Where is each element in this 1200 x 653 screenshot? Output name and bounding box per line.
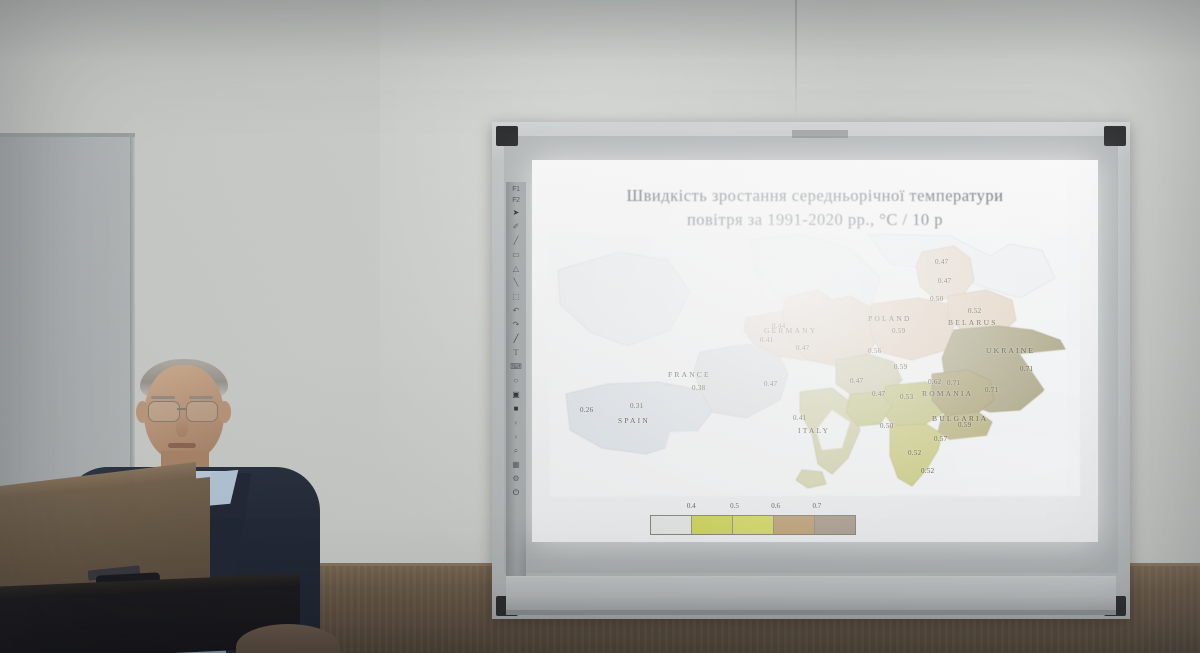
ceiling-shadow [0, 0, 1200, 62]
whiteboard-toolstrip[interactable]: F1 F2 ➤ ✐ ╱ ▭ △ ╲ ⬚ ↶ ↷ ╱ T ⌨ ○ ▣ ■ ‹ › … [506, 182, 526, 582]
colorbar-swatch-1 [692, 516, 733, 534]
pen-thin-tool-icon[interactable]: ╱ [510, 333, 522, 345]
function-key-f2[interactable]: F2 [512, 196, 520, 205]
colorbar-swatch-0 [651, 516, 692, 534]
text-tool-icon[interactable]: T [510, 347, 522, 359]
colorbar-swatch-2 [733, 516, 774, 534]
camera-tool-icon[interactable]: ■ [510, 403, 522, 415]
page-prev-tool-icon[interactable]: › [510, 431, 522, 443]
whiteboard-pen-tray [506, 576, 1116, 611]
circle-tool-icon[interactable]: ○ [510, 375, 522, 387]
colorbar-swatches [650, 515, 856, 535]
interactive-whiteboard[interactable]: F1 F2 ➤ ✐ ╱ ▭ △ ╲ ⬚ ↶ ↷ ╱ T ⌨ ○ ▣ ■ ‹ › … [492, 122, 1130, 619]
grid-tool-icon[interactable]: ▦ [510, 459, 522, 471]
map-svg [550, 234, 1080, 496]
lectern-podium [0, 474, 300, 653]
whiteboard-corner-top-left [496, 126, 518, 146]
projected-slide: Швидкість зростання середньорічної темпе… [532, 160, 1098, 542]
redo-tool-icon[interactable]: ↷ [510, 319, 522, 331]
presenter-eyeglass-right [186, 401, 218, 422]
pen-tool-icon[interactable]: ✐ [510, 221, 522, 233]
presenter-nose [176, 417, 188, 437]
whiteboard-corner-top-right [1104, 126, 1126, 146]
whiteboard-brand-logo [792, 130, 848, 138]
slide-title-line-2: повітря за 1991-2020 рр., °C / 10 р [556, 208, 1074, 232]
colorbar-tick-3: 0.7 [812, 502, 821, 510]
presenter-mouth [168, 443, 196, 448]
keyboard-tool-icon[interactable]: ⌨ [510, 361, 522, 373]
power-tool-icon[interactable]: ⏻ [510, 487, 522, 499]
presenter-eyeglass-left [148, 401, 180, 422]
page-next-tool-icon[interactable]: ‹ [510, 417, 522, 429]
wall-seam [795, 0, 797, 122]
undo-tool-icon[interactable]: ↶ [510, 305, 522, 317]
map-colorbar-legend: 0.4 0.5 0.6 0.7 [650, 502, 856, 536]
presenter-eyebrow-right [189, 396, 213, 399]
colorbar-tick-1: 0.5 [730, 502, 739, 510]
colorbar-tick-2: 0.6 [771, 502, 780, 510]
region-poland [870, 298, 954, 360]
colorbar-tick-0: 0.4 [687, 502, 696, 510]
pointer-tool-icon[interactable]: ➤ [510, 207, 522, 219]
line-tool-icon[interactable]: ╲ [510, 277, 522, 289]
slide-title: Швидкість зростання середньорічної темпе… [556, 184, 1074, 232]
shape-tool-icon[interactable]: △ [510, 263, 522, 275]
save-tool-icon[interactable]: ▣ [510, 389, 522, 401]
presenter-eyeglass-bridge [177, 408, 187, 410]
whiteboard-tray-lip [506, 610, 1116, 615]
eraser-tool-icon[interactable]: ▭ [510, 249, 522, 261]
colorbar-swatch-3 [774, 516, 815, 534]
slide-title-line-1: Швидкість зростання середньорічної темпе… [556, 184, 1074, 208]
select-tool-icon[interactable]: ⬚ [510, 291, 522, 303]
zoom-tool-icon[interactable]: ⌕ [510, 445, 522, 457]
presenter-ear-right [218, 401, 231, 423]
colorbar-tick-row: 0.4 0.5 0.6 0.7 [650, 502, 856, 513]
highlighter-tool-icon[interactable]: ╱ [510, 235, 522, 247]
colorbar-swatch-4 [815, 516, 855, 534]
europe-choropleth-map: FRANCE GERMANY POLAND BELARUS UKRAINE RO… [550, 234, 1080, 496]
presenter-eyebrow-left [151, 396, 175, 399]
lecture-photo-scene: F1 F2 ➤ ✐ ╱ ▭ △ ╲ ⬚ ↶ ↷ ╱ T ⌨ ○ ▣ ■ ‹ › … [0, 0, 1200, 653]
settings-tool-icon[interactable]: ⚙ [510, 473, 522, 485]
function-key-f1[interactable]: F1 [512, 185, 520, 194]
